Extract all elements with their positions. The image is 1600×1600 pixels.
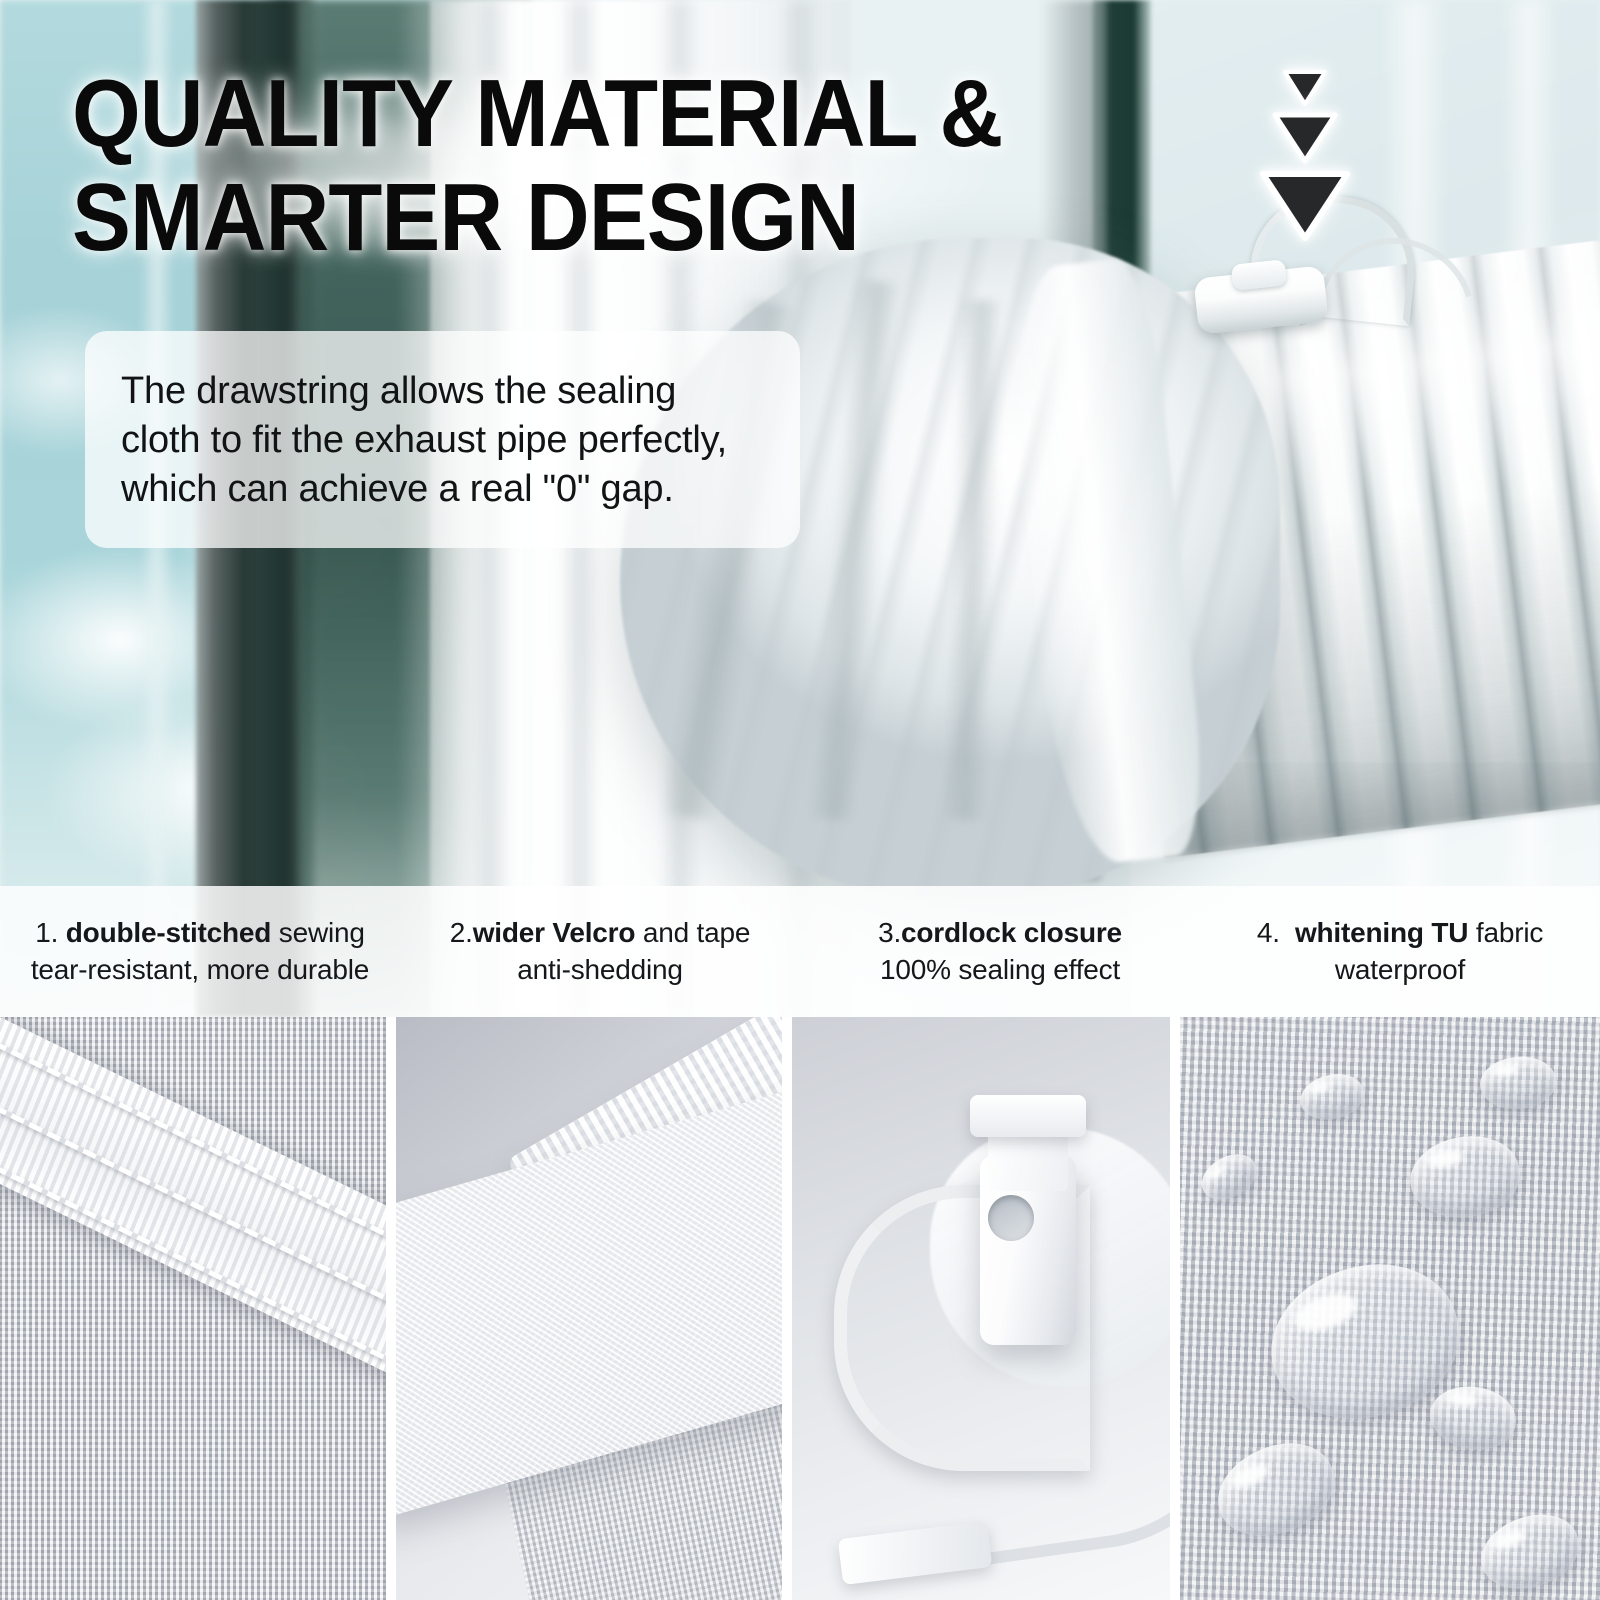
feature-caption-line1: 2.wider Velcro and tape — [450, 915, 751, 951]
feature-rest: fabric — [1468, 917, 1543, 948]
hero-photo: QUALITY MATERIAL & SMARTER DESIGN The — [0, 0, 1600, 1017]
feature-rest: sewing — [271, 917, 365, 948]
cordlock-eyelet — [988, 1195, 1034, 1241]
detail-photo-velcro — [396, 1017, 782, 1600]
triangle-down-icon — [1259, 170, 1351, 242]
detail-photo-cordlock — [792, 1017, 1170, 1600]
description-text: The drawstring allows the sealing cloth … — [121, 367, 760, 514]
feature-keyword: whitening TU — [1287, 917, 1468, 948]
triangle-down-icon — [1283, 70, 1327, 106]
feature-caption-band: 1. double-stitched sewing tear-resistant… — [0, 886, 1600, 1017]
arrow-stack — [1240, 70, 1370, 242]
feature-caption-line2: 100% sealing effect — [880, 952, 1120, 988]
feature-caption-line2: anti-shedding — [517, 952, 683, 988]
detail-photo-double-stitched — [0, 1017, 386, 1600]
detail-photo-row — [0, 1017, 1600, 1600]
description-callout: The drawstring allows the sealing cloth … — [85, 331, 800, 548]
feature-number: 1. — [35, 917, 58, 948]
feature-number: 2. — [450, 917, 473, 948]
feature-keyword: wider Velcro — [473, 917, 636, 948]
feature-caption-line1: 3.cordlock closure — [878, 915, 1122, 951]
feature-caption-line1: 4. whitening TU fabric — [1257, 915, 1543, 951]
page-title: QUALITY MATERIAL & SMARTER DESIGN — [72, 62, 1112, 269]
feature-caption-4: 4. whitening TU fabric waterproof — [1200, 886, 1600, 1017]
feature-number: 4. — [1257, 917, 1288, 948]
cordlock-push-cap — [970, 1095, 1086, 1137]
feature-caption-line2: tear-resistant, more durable — [31, 952, 369, 988]
feature-number: 3. — [878, 917, 901, 948]
feature-keyword: cordlock closure — [901, 917, 1122, 948]
detail-photo-waterproof — [1180, 1017, 1600, 1600]
feature-keyword: double-stitched — [66, 917, 271, 948]
triangle-down-icon — [1272, 112, 1338, 164]
feature-caption-line1: 1. double-stitched sewing — [35, 915, 365, 951]
feature-caption-1: 1. double-stitched sewing tear-resistant… — [0, 886, 400, 1017]
feature-caption-3: 3.cordlock closure 100% sealing effect — [800, 886, 1200, 1017]
feature-rest: and tape — [635, 917, 750, 948]
feature-caption-2: 2.wider Velcro and tape anti-shedding — [400, 886, 800, 1017]
feature-caption-line2: waterproof — [1335, 952, 1465, 988]
product-infographic: QUALITY MATERIAL & SMARTER DESIGN The — [0, 0, 1600, 1600]
